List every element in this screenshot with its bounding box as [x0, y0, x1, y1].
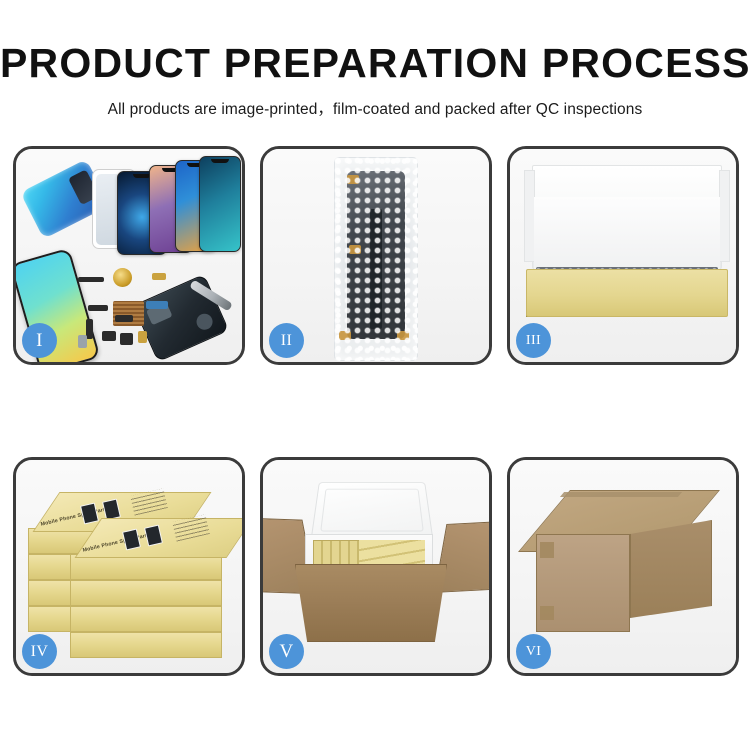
component-chip-icon [78, 335, 87, 348]
phone-back-housing-icon [133, 274, 229, 362]
carton-seam [560, 492, 682, 497]
tape-icon [339, 331, 351, 340]
flex-cable-icon [370, 209, 382, 329]
step-badge-6: VI [516, 634, 551, 669]
component-chip-icon [115, 315, 133, 322]
box-stack: Mobile Phone Spare Parts Mobile Phone Sp… [26, 478, 238, 666]
component-chip-icon [102, 331, 116, 341]
carton-tape-icon [540, 542, 554, 558]
component-chip-icon [152, 273, 166, 280]
product-preparation-infographic: PRODUCT PREPARATION PROCESS All products… [0, 0, 750, 750]
carton-side-face [630, 520, 712, 618]
tape-icon [349, 245, 361, 254]
step-badge-5: V [269, 634, 304, 669]
stacked-box [70, 632, 222, 658]
circuit-board-icon [113, 301, 144, 326]
stacked-box [70, 580, 222, 606]
camera-module-icon [120, 333, 133, 345]
flex-cable-icon [146, 301, 168, 309]
tape-icon [347, 175, 359, 184]
header: PRODUCT PREPARATION PROCESS All products… [0, 0, 750, 119]
process-step-5: V [260, 457, 492, 676]
speaker-coil-icon [113, 268, 132, 287]
component-chip-icon [138, 331, 147, 343]
flex-cable-icon [88, 305, 108, 311]
component-chip-icon [78, 277, 104, 282]
stacked-box [70, 606, 222, 632]
step-badge-4: IV [22, 634, 57, 669]
step-badge-2: II [269, 323, 304, 358]
process-step-4: Mobile Phone Spare Parts Mobile Phone Sp… [13, 457, 245, 676]
flex-cable-icon [86, 319, 93, 339]
phone-screen-icon [199, 156, 241, 252]
yellow-box-tray-icon [526, 269, 728, 317]
shipping-carton-icon [295, 564, 447, 642]
foam-sheet-icon [534, 197, 720, 271]
page-title: PRODUCT PREPARATION PROCESS [0, 42, 750, 85]
step-badge-3: III [516, 323, 551, 358]
tape-icon [397, 331, 409, 340]
process-step-grid: I II [13, 146, 739, 676]
page-subtitle: All products are image-printed，film-coat… [0, 97, 750, 119]
step-badge-1: I [22, 323, 57, 358]
process-step-3: III [507, 146, 739, 365]
carton-tape-icon [540, 606, 554, 620]
process-step-2: II [260, 146, 492, 365]
process-step-6: VI [507, 457, 739, 676]
phone-notch-icon [211, 159, 229, 163]
process-step-1: I [13, 146, 245, 365]
foam-lid-icon [311, 482, 434, 540]
